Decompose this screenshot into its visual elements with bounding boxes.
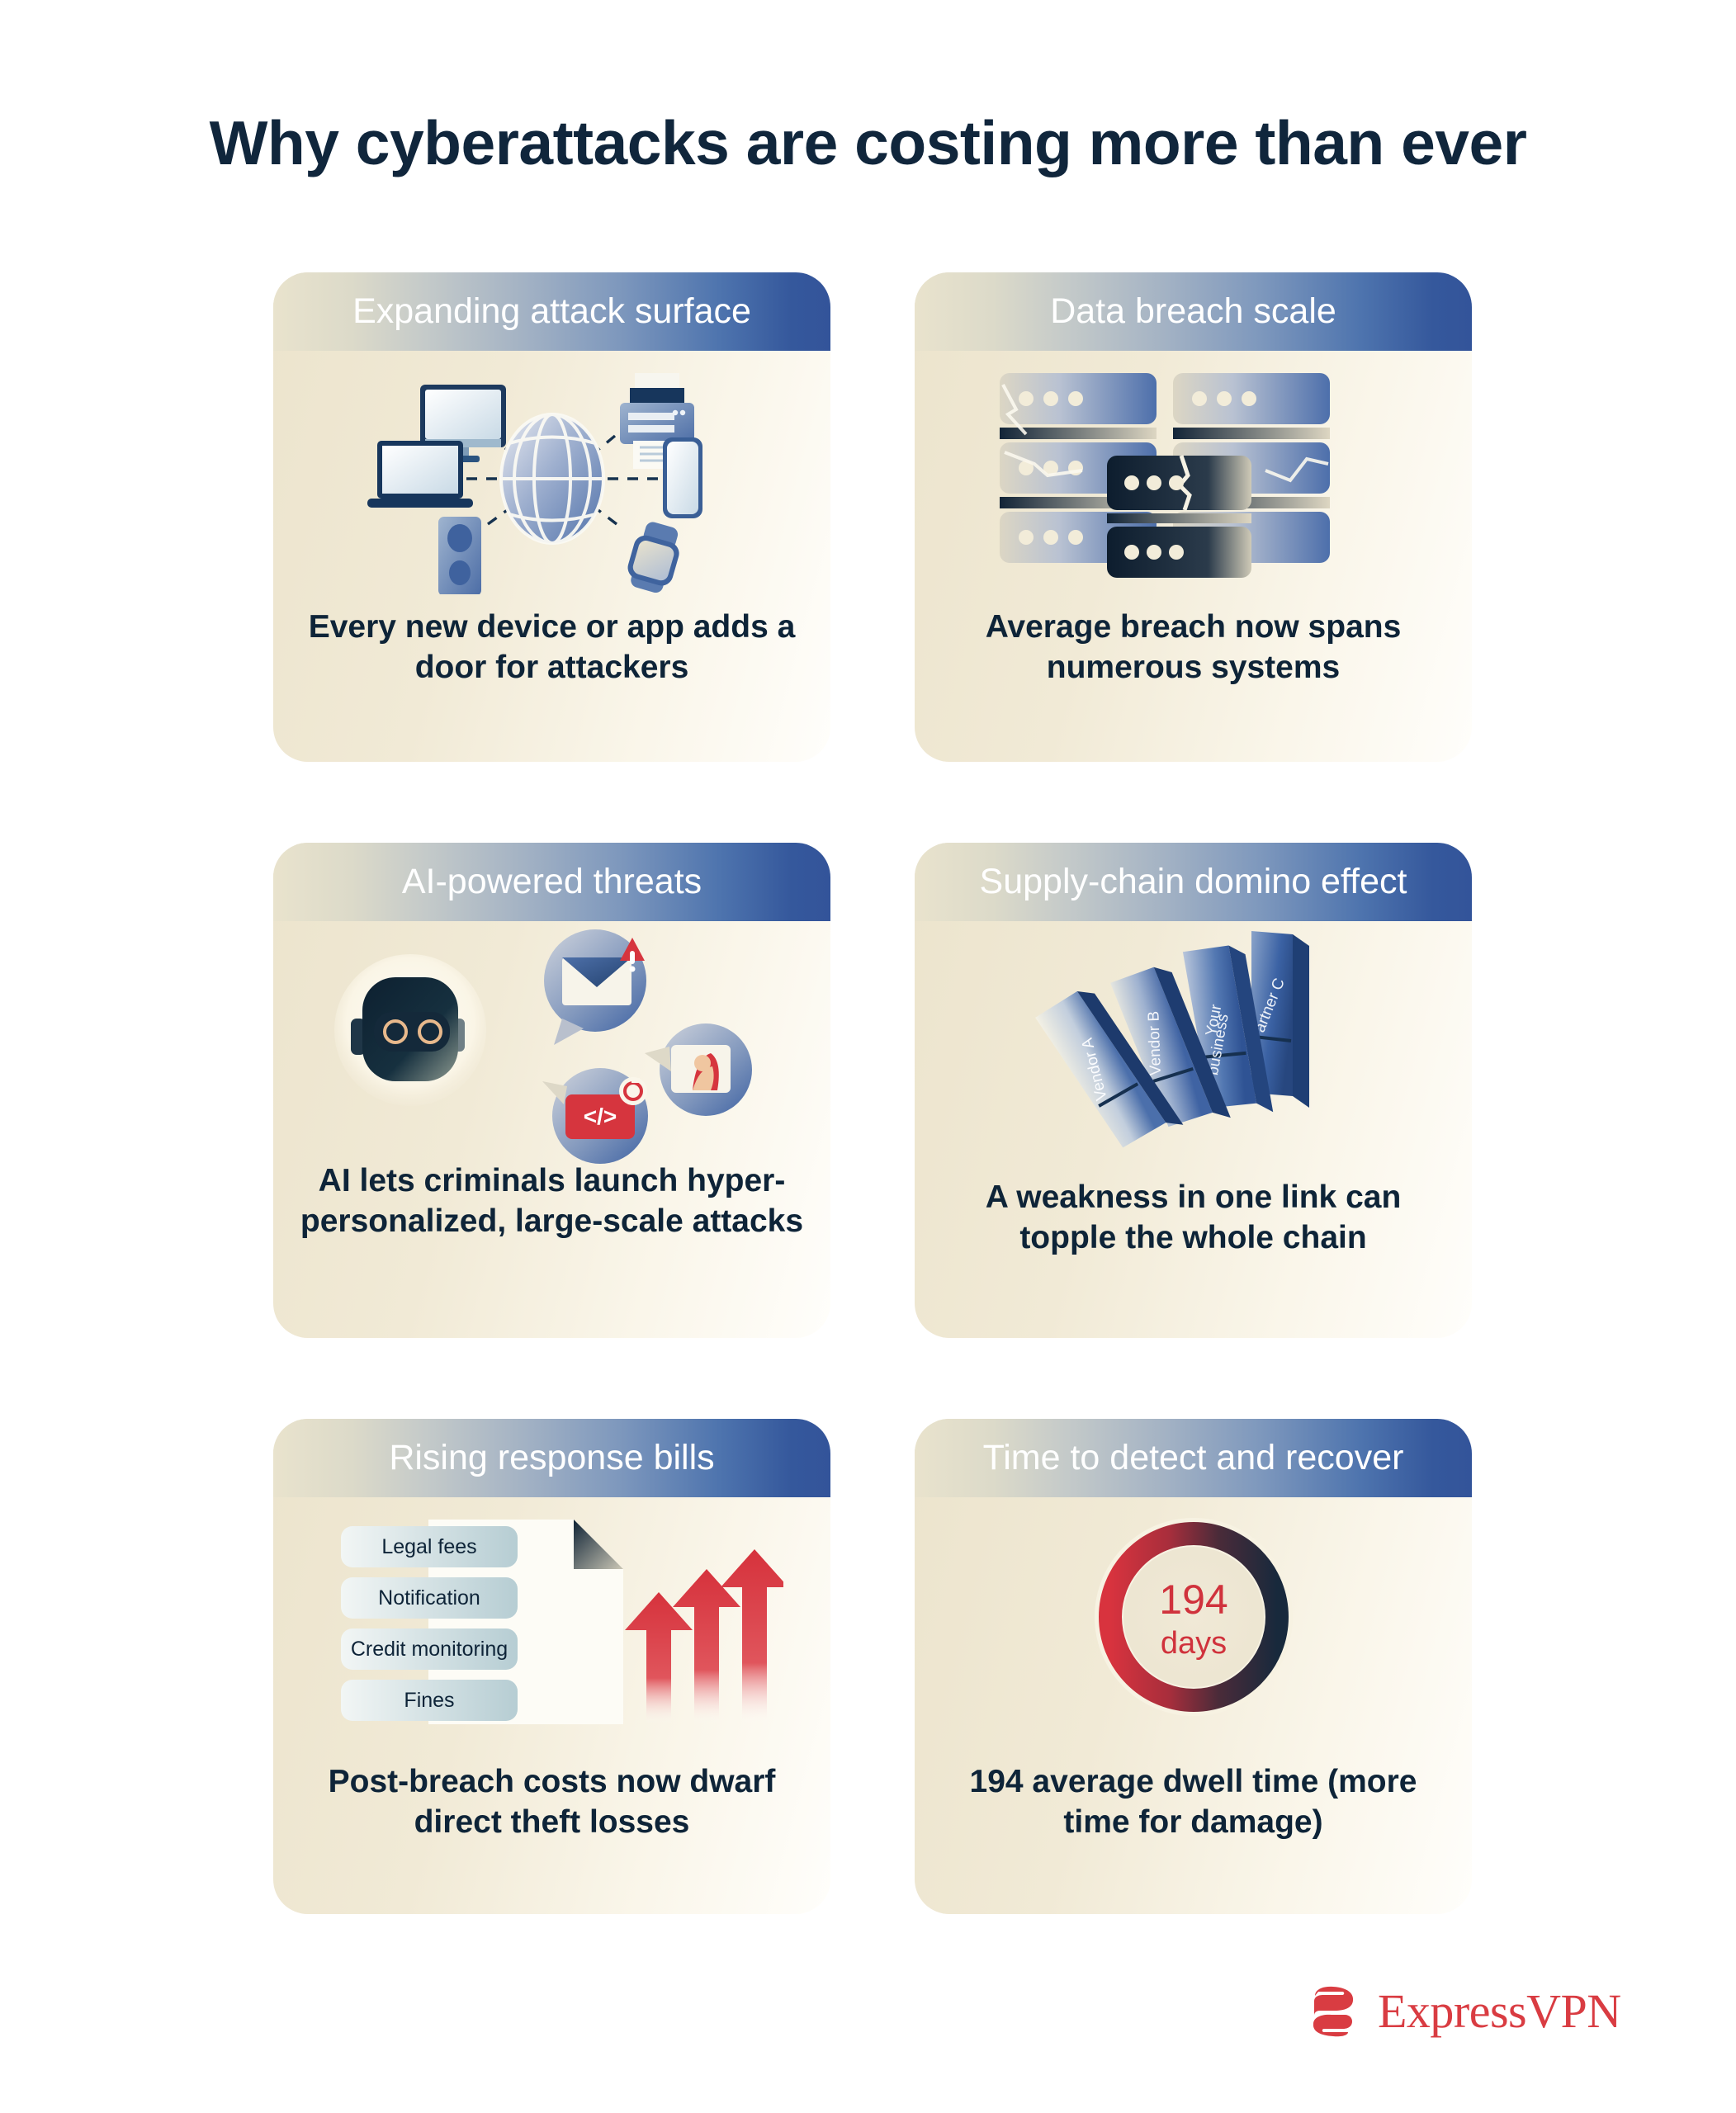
card-caption: Average breach now spans numerous system… <box>938 607 1449 688</box>
card-header-expanding-attack-surface: Expanding attack surface <box>273 272 830 351</box>
deepfake-video-bubble <box>645 1023 752 1116</box>
brand-name: ExpressVPN <box>1378 1988 1621 2035</box>
card-header-title: Time to detect and recover <box>983 1438 1404 1478</box>
card-expanding-attack-surface: Expanding attack surface <box>273 272 830 762</box>
illustration-dwell-time-gauge: 194 days <box>915 1497 1472 1745</box>
cracked-server-icon <box>1107 456 1251 578</box>
card-caption: Post-breach costs now dwarf direct theft… <box>296 1761 807 1842</box>
card-header-supply-chain-domino-effect: Supply-chain domino effect <box>915 843 1472 921</box>
speaker-icon <box>438 517 481 594</box>
card-caption: A weakness in one link can topple the wh… <box>938 1177 1449 1258</box>
phishing-email-bubble <box>544 929 646 1045</box>
card-data-breach-scale: Data breach scale <box>915 272 1472 762</box>
smartphone-icon <box>663 437 702 518</box>
arrow-up-icon <box>721 1549 783 1724</box>
card-header-title: Expanding attack surface <box>352 291 751 332</box>
illustration-network-devices-globe <box>273 351 830 598</box>
cost-item-label: Credit monitoring <box>350 1638 507 1661</box>
illustration-falling-dominoes: Partner C Your business <box>915 921 1472 1169</box>
smartwatch-icon <box>622 518 685 594</box>
card-header-title: Data breach scale <box>1050 291 1336 332</box>
card-caption: Every new device or app adds a door for … <box>296 607 807 688</box>
illustration-robot-threat-bubbles: </> <box>273 921 830 1169</box>
cost-item-label: Notification <box>378 1586 480 1610</box>
svg-text:</>: </> <box>583 1104 616 1129</box>
card-time-to-detect-and-recover: Time to detect and recover <box>915 1419 1472 1914</box>
card-header-title: AI-powered threats <box>402 862 702 902</box>
illustration-invoice-rising-arrows: Legal fees Notification Credit monitorin… <box>273 1497 830 1745</box>
arrow-up-icon <box>625 1592 693 1724</box>
cost-item-label: Legal fees <box>381 1535 476 1558</box>
cost-item-label: Fines <box>404 1689 454 1712</box>
illustration-server-rack-breached <box>915 351 1472 598</box>
card-header-title: Supply-chain domino effect <box>980 862 1407 902</box>
gauge-unit: days <box>1160 1626 1226 1661</box>
card-header-rising-response-bills: Rising response bills <box>273 1419 830 1497</box>
page-title: Why cyberattacks are costing more than e… <box>0 107 1736 178</box>
rising-cost-arrows <box>625 1549 783 1724</box>
arrow-up-icon <box>673 1569 740 1724</box>
expressvpn-e-mark-icon <box>1307 1985 1360 2038</box>
card-rising-response-bills: Rising response bills <box>273 1419 830 1914</box>
cards-grid: Expanding attack surface <box>273 272 1472 1914</box>
malicious-code-bubble: </> <box>542 1068 648 1164</box>
laptop-icon <box>367 441 473 508</box>
infographic-page: Why cyberattacks are costing more than e… <box>0 0 1736 2113</box>
card-header-time-to-detect-and-recover: Time to detect and recover <box>915 1419 1472 1497</box>
card-caption: AI lets criminals launch hyper-personali… <box>296 1160 807 1241</box>
domino-label: Vendor B <box>1145 1011 1165 1076</box>
globe-icon <box>501 414 603 543</box>
card-ai-powered-threats: AI-powered threats <box>273 843 830 1338</box>
card-caption: 194 average dwell time (more time for da… <box>938 1761 1449 1842</box>
brand-logo: ExpressVPN <box>1307 1985 1621 2038</box>
card-supply-chain-domino-effect: Supply-chain domino effect <box>915 843 1472 1338</box>
card-header-ai-powered-threats: AI-powered threats <box>273 843 830 921</box>
robot-head-icon <box>334 954 486 1106</box>
gauge-value: 194 <box>1159 1576 1227 1623</box>
card-header-title: Rising response bills <box>389 1438 714 1478</box>
card-header-data-breach-scale: Data breach scale <box>915 272 1472 351</box>
